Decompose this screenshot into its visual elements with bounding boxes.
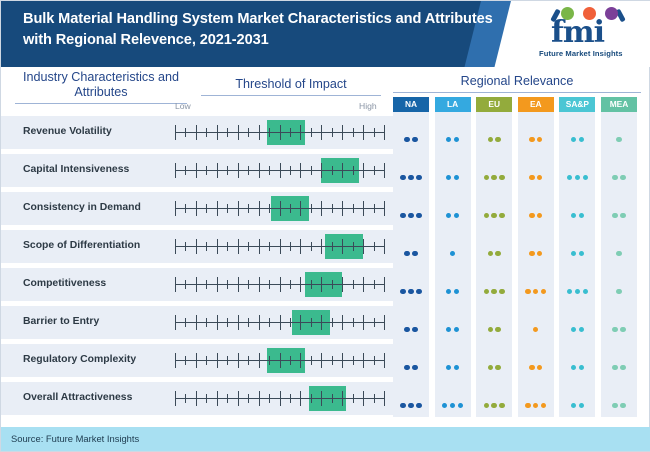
- axis-tick: [353, 128, 354, 137]
- relevance-dot: [495, 137, 500, 142]
- axis-tick: [384, 315, 385, 330]
- relevance-dot: [446, 289, 451, 294]
- relevance-dot: [620, 213, 625, 218]
- relevance-dots: [476, 357, 512, 375]
- relevance-dots: [559, 281, 595, 299]
- axis-tick: [353, 356, 354, 365]
- axis-tick: [342, 201, 343, 216]
- axis-tick: [269, 166, 270, 175]
- region-header-badge[interactable]: EA: [518, 97, 554, 112]
- relevance-dot: [537, 365, 542, 370]
- relevance-dot: [537, 213, 542, 218]
- axis-tick: [311, 318, 312, 327]
- axis-tick: [300, 315, 301, 330]
- axis-tick: [311, 280, 312, 289]
- axis-tick: [185, 394, 186, 403]
- region-header-badge[interactable]: EU: [476, 97, 512, 112]
- axis-tick: [321, 125, 322, 140]
- axis-tick: [290, 204, 291, 213]
- axis-tick: [196, 277, 197, 292]
- axis-tick: [227, 128, 228, 137]
- relevance-dot: [495, 251, 500, 256]
- region-dot-cell: [393, 268, 429, 301]
- relevance-dot: [491, 403, 496, 408]
- relevance-dot: [454, 175, 459, 180]
- axis-tick: [363, 315, 364, 330]
- relevance-dot: [495, 365, 500, 370]
- axis-tick: [280, 239, 281, 254]
- infographic-page: Bulk Material Handling System Market Cha…: [0, 0, 650, 452]
- relevance-dot: [412, 137, 417, 142]
- axis-tick: [374, 166, 375, 175]
- axis-tick: [374, 128, 375, 137]
- relevance-dots: [518, 243, 554, 261]
- axis-tick: [311, 128, 312, 137]
- relevance-dots: [518, 281, 554, 299]
- table-row: Revenue Volatility: [1, 116, 393, 149]
- axis-tick: [238, 353, 239, 368]
- attribute-label: Revenue Volatility: [23, 126, 112, 137]
- region-dot-cell: [559, 344, 595, 377]
- axis-tick: [206, 166, 207, 175]
- relevance-dot: [579, 137, 584, 142]
- relevance-dots: [435, 205, 471, 223]
- column-title-attributes: Industry Characteristics and Attributes: [15, 70, 187, 104]
- axis-tick: [280, 201, 281, 216]
- region-dot-cell: [518, 192, 554, 225]
- axis-tick: [217, 277, 218, 292]
- axis-tick: [248, 204, 249, 213]
- axis-tick: [217, 163, 218, 178]
- relevance-dots: [601, 243, 637, 261]
- relevance-dots: [435, 281, 471, 299]
- axis-tick: [248, 128, 249, 137]
- axis-tick: [227, 394, 228, 403]
- relevance-dot: [442, 403, 447, 408]
- table-row: Scope of Differentiation: [1, 230, 393, 263]
- relevance-dot: [408, 403, 413, 408]
- region-dot-cell: [559, 192, 595, 225]
- axis-tick: [311, 166, 312, 175]
- axis-tick: [259, 239, 260, 254]
- region-dot-cell: [476, 230, 512, 263]
- relevance-dots: [476, 395, 512, 413]
- relevance-dot: [571, 365, 576, 370]
- logo-circle-purple-icon: [605, 7, 618, 20]
- relevance-dot: [408, 289, 413, 294]
- axis-tick: [384, 391, 385, 406]
- relevance-dots: [476, 243, 512, 261]
- table-row: Barrier to Entry: [1, 306, 393, 339]
- relevance-dots: [435, 167, 471, 185]
- region-dot-cell: [559, 382, 595, 415]
- relevance-dot: [484, 213, 489, 218]
- axis-tick: [332, 166, 333, 175]
- axis-tick: [269, 204, 270, 213]
- region-dot-cell: [601, 382, 637, 415]
- axis-tick: [300, 277, 301, 292]
- relevance-dot: [454, 137, 459, 142]
- axis-tick: [363, 163, 364, 178]
- region-dot-cell: [601, 344, 637, 377]
- relevance-dot: [491, 289, 496, 294]
- relevance-dot: [612, 213, 617, 218]
- scale-label-high: High: [359, 101, 377, 111]
- axis-tick: [206, 204, 207, 213]
- axis-tick: [300, 201, 301, 216]
- column-title-region-text: Regional Relevance: [461, 74, 574, 88]
- axis-tick: [300, 239, 301, 254]
- relevance-dots: [601, 205, 637, 223]
- axis-tick: [238, 125, 239, 140]
- title-underline: [393, 92, 641, 93]
- region-dot-cell: [393, 344, 429, 377]
- impact-slider[interactable]: [175, 162, 384, 179]
- logo-wordmark: fmi: [551, 15, 604, 50]
- axis-tick: [269, 356, 270, 365]
- relevance-dots: [435, 243, 471, 261]
- axis-tick: [248, 356, 249, 365]
- relevance-dot: [567, 289, 572, 294]
- relevance-dot: [575, 175, 580, 180]
- relevance-dot: [571, 137, 576, 142]
- axis-tick: [311, 356, 312, 365]
- relevance-dots: [518, 319, 554, 337]
- axis-tick: [206, 394, 207, 403]
- relevance-dots: [559, 319, 595, 337]
- axis-tick: [206, 128, 207, 137]
- relevance-dot: [616, 251, 621, 256]
- axis-tick: [353, 318, 354, 327]
- relevance-dot: [488, 137, 493, 142]
- relevance-dots: [559, 357, 595, 375]
- region-dot-cell: [476, 268, 512, 301]
- region-dot-cell: [601, 154, 637, 187]
- axis-tick: [238, 201, 239, 216]
- region-column-saandp: SA&P: [559, 97, 595, 417]
- relevance-dot: [416, 403, 421, 408]
- region-dot-cell: [435, 154, 471, 187]
- relevance-dot: [416, 213, 421, 218]
- relevance-dot: [616, 289, 621, 294]
- relevance-dot: [499, 175, 504, 180]
- relevance-dots: [601, 281, 637, 299]
- relevance-dot: [454, 365, 459, 370]
- axis-tick: [217, 353, 218, 368]
- relevance-dot: [400, 289, 405, 294]
- relevance-dot: [575, 289, 580, 294]
- relevance-dot: [499, 213, 504, 218]
- region-column-eu: EU: [476, 97, 512, 417]
- axis-tick: [259, 163, 260, 178]
- relevance-dots: [435, 319, 471, 337]
- region-dot-cell: [435, 268, 471, 301]
- axis-tick: [248, 242, 249, 251]
- relevance-dot: [579, 213, 584, 218]
- relevance-dots: [393, 205, 429, 223]
- axis-tick: [196, 163, 197, 178]
- axis-tick: [227, 204, 228, 213]
- axis-tick: [332, 356, 333, 365]
- relevance-dot: [571, 213, 576, 218]
- relevance-dot: [484, 403, 489, 408]
- relevance-dot: [579, 403, 584, 408]
- relevance-dot: [450, 251, 455, 256]
- axis-tick: [196, 391, 197, 406]
- relevance-dot: [529, 365, 534, 370]
- axis-tick: [342, 125, 343, 140]
- region-dot-cell: [476, 116, 512, 149]
- axis-tick: [342, 277, 343, 292]
- axis-tick: [353, 204, 354, 213]
- relevance-dots: [435, 129, 471, 147]
- relevance-dot: [529, 213, 534, 218]
- axis-tick: [217, 239, 218, 254]
- region-header-badge[interactable]: LA: [435, 97, 471, 112]
- relevance-dot: [612, 175, 617, 180]
- region-dot-cell: [559, 116, 595, 149]
- axis-tick: [321, 353, 322, 368]
- axis-tick: [290, 242, 291, 251]
- axis-tick: [280, 277, 281, 292]
- relevance-dot: [404, 327, 409, 332]
- axis-tick: [374, 394, 375, 403]
- region-dot-cell: [435, 382, 471, 415]
- relevance-dots: [476, 205, 512, 223]
- axis-tick: [280, 391, 281, 406]
- axis-tick: [321, 201, 322, 216]
- relevance-dot: [571, 251, 576, 256]
- relevance-dots: [393, 243, 429, 261]
- impact-slider[interactable]: [175, 276, 384, 293]
- region-dot-cell: [601, 230, 637, 263]
- axis-tick: [374, 280, 375, 289]
- impact-slider[interactable]: [175, 352, 384, 369]
- relevance-dots: [435, 395, 471, 413]
- axis-tick: [384, 239, 385, 254]
- region-dot-cell: [559, 154, 595, 187]
- axis-tick: [196, 239, 197, 254]
- region-dot-cell: [476, 344, 512, 377]
- axis-tick: [321, 277, 322, 292]
- axis-tick: [332, 128, 333, 137]
- source-note: Source: Future Market Insights: [11, 433, 139, 444]
- attribute-label: Capital Intensiveness: [23, 164, 129, 175]
- attribute-rows: Revenue VolatilityCapital IntensivenessC…: [1, 116, 393, 420]
- axis-tick: [248, 394, 249, 403]
- axis-tick: [321, 391, 322, 406]
- column-title-impact: Threshold of Impact: [201, 77, 381, 96]
- axis-tick: [353, 280, 354, 289]
- impact-slider[interactable]: [175, 124, 384, 141]
- relevance-dot: [446, 175, 451, 180]
- axis-tick: [196, 201, 197, 216]
- relevance-dot: [612, 327, 617, 332]
- relevance-dot: [408, 175, 413, 180]
- relevance-dots: [393, 357, 429, 375]
- axis-tick: [280, 125, 281, 140]
- axis-tick: [290, 394, 291, 403]
- impact-slider[interactable]: [175, 390, 384, 407]
- relevance-dot: [529, 175, 534, 180]
- region-dot-cell: [518, 154, 554, 187]
- relevance-dots: [393, 281, 429, 299]
- relevance-dot: [446, 365, 451, 370]
- relevance-dot: [458, 403, 463, 408]
- region-dot-cell: [601, 192, 637, 225]
- region-dot-cell: [476, 306, 512, 339]
- region-dot-cell: [601, 116, 637, 149]
- impact-slider[interactable]: [175, 314, 384, 331]
- relevance-dots: [601, 319, 637, 337]
- relevance-dot: [571, 327, 576, 332]
- relevance-dot: [491, 213, 496, 218]
- column-title-impact-text: Threshold of Impact: [235, 77, 346, 91]
- axis-tick: [269, 242, 270, 251]
- axis-tick: [238, 239, 239, 254]
- axis-tick: [290, 280, 291, 289]
- axis-tick: [290, 166, 291, 175]
- axis-tick: [311, 242, 312, 251]
- region-dot-cell: [435, 344, 471, 377]
- region-dot-cell: [393, 154, 429, 187]
- axis-tick: [342, 163, 343, 178]
- relevance-dots: [476, 129, 512, 147]
- axis-tick: [374, 242, 375, 251]
- axis-tick: [353, 394, 354, 403]
- relevance-dot: [533, 403, 538, 408]
- relevance-dot: [620, 175, 625, 180]
- relevance-dot: [525, 403, 530, 408]
- relevance-dot: [612, 403, 617, 408]
- region-dot-cell: [476, 192, 512, 225]
- table-row: Regulatory Complexity: [1, 344, 393, 377]
- axis-tick: [259, 353, 260, 368]
- axis-tick: [175, 201, 176, 216]
- attribute-label: Scope of Differentiation: [23, 240, 140, 251]
- relevance-dot: [412, 327, 417, 332]
- axis-tick: [175, 391, 176, 406]
- axis-tick: [185, 280, 186, 289]
- region-dot-cell: [518, 230, 554, 263]
- relevance-dot: [537, 137, 542, 142]
- region-header-badge[interactable]: NA: [393, 97, 429, 112]
- relevance-dot: [620, 403, 625, 408]
- axis-tick: [300, 391, 301, 406]
- region-dot-cell: [518, 116, 554, 149]
- axis-tick: [259, 201, 260, 216]
- relevance-dot: [533, 327, 538, 332]
- axis-tick: [217, 315, 218, 330]
- axis-tick: [248, 318, 249, 327]
- region-dot-cell: [435, 306, 471, 339]
- relevance-dot: [484, 175, 489, 180]
- axis-tick: [206, 356, 207, 365]
- axis-tick: [280, 353, 281, 368]
- axis-tick: [269, 318, 270, 327]
- relevance-dot: [499, 403, 504, 408]
- region-header-badge[interactable]: SA&P: [559, 97, 595, 112]
- axis-tick: [332, 318, 333, 327]
- relevance-dot: [571, 403, 576, 408]
- relevance-dot: [446, 213, 451, 218]
- axis-tick: [175, 315, 176, 330]
- attribute-label: Barrier to Entry: [23, 316, 99, 327]
- axis-tick: [363, 125, 364, 140]
- axis-tick: [196, 353, 197, 368]
- relevance-dot: [416, 289, 421, 294]
- relevance-dot: [488, 327, 493, 332]
- region-dot-cell: [393, 116, 429, 149]
- axis-tick: [269, 280, 270, 289]
- axis-tick: [384, 353, 385, 368]
- relevance-dot: [404, 251, 409, 256]
- title-underline: [15, 103, 187, 104]
- fmi-logo: fmi Future Market Insights: [535, 7, 639, 59]
- axis-tick: [290, 356, 291, 365]
- relevance-dots: [601, 129, 637, 147]
- attribute-label: Consistency in Demand: [23, 202, 141, 213]
- relevance-dot: [541, 289, 546, 294]
- region-dot-cell: [559, 268, 595, 301]
- axis-tick: [384, 201, 385, 216]
- relevance-dot: [499, 289, 504, 294]
- axis-tick: [374, 356, 375, 365]
- relevance-dots: [435, 357, 471, 375]
- relevance-dots: [518, 205, 554, 223]
- axis-tick: [227, 280, 228, 289]
- impact-slider[interactable]: [175, 200, 384, 217]
- relevance-dot: [408, 213, 413, 218]
- axis-tick: [185, 128, 186, 137]
- relevance-dot: [537, 251, 542, 256]
- region-dot-cell: [435, 230, 471, 263]
- axis-tick: [175, 163, 176, 178]
- axis-tick: [363, 353, 364, 368]
- axis-tick: [185, 318, 186, 327]
- relevance-dots: [393, 319, 429, 337]
- axis-tick: [300, 353, 301, 368]
- region-dot-cell: [559, 230, 595, 263]
- relevance-dot: [446, 137, 451, 142]
- region-header-badge[interactable]: MEA: [601, 97, 637, 112]
- attribute-label: Overall Attractiveness: [23, 392, 132, 403]
- relevance-dot: [537, 175, 542, 180]
- region-dot-cell: [601, 268, 637, 301]
- relevance-dot: [495, 327, 500, 332]
- relevance-dot: [579, 251, 584, 256]
- impact-slider[interactable]: [175, 238, 384, 255]
- table-row: Capital Intensiveness: [1, 154, 393, 187]
- scale-label-low: Low: [175, 101, 191, 111]
- axis-tick: [332, 204, 333, 213]
- region-dot-cell: [435, 116, 471, 149]
- axis-tick: [269, 394, 270, 403]
- relevance-dots: [601, 167, 637, 185]
- relevance-dot: [488, 251, 493, 256]
- logo-tagline: Future Market Insights: [539, 49, 623, 58]
- region-dot-cell: [518, 382, 554, 415]
- axis-tick: [342, 239, 343, 254]
- relevance-dot: [620, 365, 625, 370]
- region-dot-cell: [393, 382, 429, 415]
- region-dot-cell: [559, 306, 595, 339]
- relevance-dots: [476, 319, 512, 337]
- relevance-dots: [393, 129, 429, 147]
- axis-tick: [332, 280, 333, 289]
- axis-tick: [248, 166, 249, 175]
- relevance-dots: [476, 167, 512, 185]
